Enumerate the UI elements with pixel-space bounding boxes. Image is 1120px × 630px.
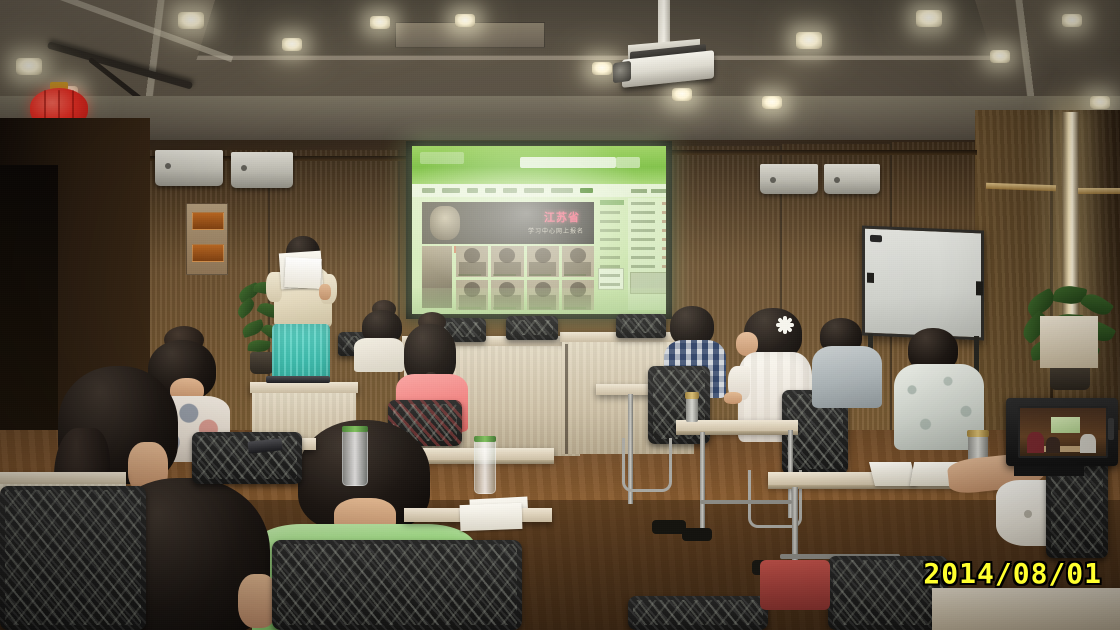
attendee-grey-top — [812, 318, 886, 414]
sidebar-category[interactable] — [600, 274, 620, 277]
presenter-papers-second-sheet — [284, 257, 322, 289]
air-conditioner-unit — [824, 164, 880, 194]
sidebar-category-active[interactable] — [600, 200, 624, 205]
sidebar-tab[interactable] — [631, 189, 647, 193]
desk — [250, 382, 358, 393]
ceiling-light — [672, 88, 692, 101]
desk-rail — [700, 500, 792, 504]
shoe — [652, 520, 686, 534]
ceiling — [0, 0, 1120, 152]
site-logo — [420, 152, 464, 164]
steel-thermos — [686, 398, 698, 422]
camcorder-recording[interactable] — [1006, 398, 1118, 466]
sidebar-category[interactable] — [600, 283, 620, 286]
ceiling-light — [16, 58, 42, 75]
air-conditioner-unit — [155, 150, 223, 186]
sidebar-tab[interactable] — [651, 189, 666, 193]
portrait-card[interactable] — [491, 246, 523, 277]
white-flower-hair-clip — [776, 316, 794, 334]
glass-water-bottle — [342, 430, 368, 486]
camcorder-preview-figure — [1046, 437, 1060, 453]
chair — [272, 540, 522, 630]
red-bag — [760, 560, 830, 610]
projection-screen-frame: 江苏省 学习中心网上报名 — [406, 141, 672, 319]
sidebar-category[interactable] — [600, 256, 620, 259]
camcorder-lcd-screen — [1018, 406, 1108, 458]
nav-item[interactable] — [422, 188, 435, 193]
camcorder-base — [1014, 466, 1084, 476]
presenter-hand — [319, 284, 331, 300]
desk-seam — [565, 344, 568, 454]
wall-trim — [672, 150, 977, 155]
sidebar-category[interactable] — [600, 211, 620, 214]
sidebar-category[interactable] — [600, 265, 620, 268]
nav-item[interactable] — [551, 188, 573, 193]
projector-mount-pole — [658, 0, 670, 45]
portrait-card[interactable] — [562, 246, 594, 277]
screen-bottom-glow — [412, 288, 666, 314]
chair — [628, 596, 768, 630]
sidebar-category[interactable] — [600, 247, 620, 250]
promo-banner[interactable]: 江苏省 学习中心网上报名 — [422, 202, 594, 244]
sidebar-category[interactable] — [600, 229, 620, 232]
portrait-card[interactable] — [527, 246, 559, 277]
desk — [0, 472, 126, 484]
ceiling-light — [282, 38, 302, 51]
bottle-cap — [474, 436, 496, 442]
ceiling-light — [1062, 14, 1082, 27]
camcorder-preview-figure — [1080, 434, 1095, 453]
wall-plaque — [192, 244, 224, 262]
camcorder-grip — [1108, 418, 1114, 440]
ceiling-light — [916, 10, 942, 27]
portrait-card[interactable] — [456, 246, 488, 277]
webpage-header — [412, 146, 666, 184]
ceiling-light — [592, 62, 612, 75]
presenter-standing — [266, 236, 340, 396]
air-conditioner-unit — [231, 152, 293, 188]
ceiling-light — [762, 96, 782, 109]
chair-base — [622, 438, 672, 492]
chair — [192, 432, 302, 484]
nav-item[interactable] — [485, 188, 496, 193]
attendee-hand — [724, 392, 742, 404]
open-notebook — [872, 462, 954, 486]
attendee-grey-top-body — [812, 346, 882, 408]
ceiling-light — [178, 12, 204, 29]
wall-plaque — [192, 212, 224, 230]
projector-lens — [613, 61, 631, 84]
whiteboard-magnet — [870, 235, 882, 243]
camera-date-stamp: 2014/08/01 — [923, 557, 1102, 590]
desk — [932, 588, 1120, 630]
attendee-light-shirt — [352, 300, 410, 370]
sidebar-category[interactable] — [600, 220, 620, 223]
nav-item[interactable] — [467, 188, 478, 193]
desk-leg — [700, 432, 705, 528]
shirt-button — [1024, 510, 1032, 518]
banner-portrait — [430, 206, 460, 240]
nav-item[interactable] — [442, 188, 460, 193]
sidebar-category[interactable] — [600, 238, 620, 241]
search-button[interactable] — [616, 157, 640, 168]
sidebar-tabs — [628, 186, 666, 196]
camcorder-preview-projection — [1051, 417, 1080, 433]
side-table — [1040, 316, 1098, 368]
glass-water-bottle — [474, 440, 496, 494]
ceiling-light — [1090, 96, 1110, 109]
bottle-cap — [342, 426, 368, 432]
ceiling-light — [796, 32, 822, 49]
chair — [506, 316, 558, 340]
attendee-light-shirt-body — [354, 338, 404, 372]
wall-trim-highlight — [1078, 188, 1120, 194]
banner-subline: 学习中心网上报名 — [528, 226, 584, 235]
wall-plaque-holder — [186, 203, 228, 275]
ceiling-light — [370, 16, 390, 29]
desk-edge — [676, 431, 798, 435]
whiteboard-clip — [867, 273, 874, 283]
ceiling-light — [455, 14, 475, 27]
shoe — [682, 528, 712, 541]
nav-item[interactable] — [503, 188, 517, 193]
ceiling-light — [990, 50, 1010, 63]
whiteboard-clip — [976, 281, 983, 295]
projection-screen: 江苏省 学习中心网上报名 — [412, 146, 666, 314]
nav-item-active[interactable] — [580, 188, 593, 193]
desk-remote — [266, 376, 330, 383]
banner-headline: 江苏省 — [544, 209, 580, 225]
classroom-photograph: 江苏省 学习中心网上报名 — [0, 0, 1120, 630]
air-conditioner-unit — [760, 164, 818, 194]
chair — [0, 486, 146, 630]
search-input[interactable] — [520, 157, 616, 168]
white-notebook — [460, 503, 523, 531]
nav-item[interactable] — [524, 188, 544, 193]
camcorder-preview-figure — [1027, 432, 1044, 453]
